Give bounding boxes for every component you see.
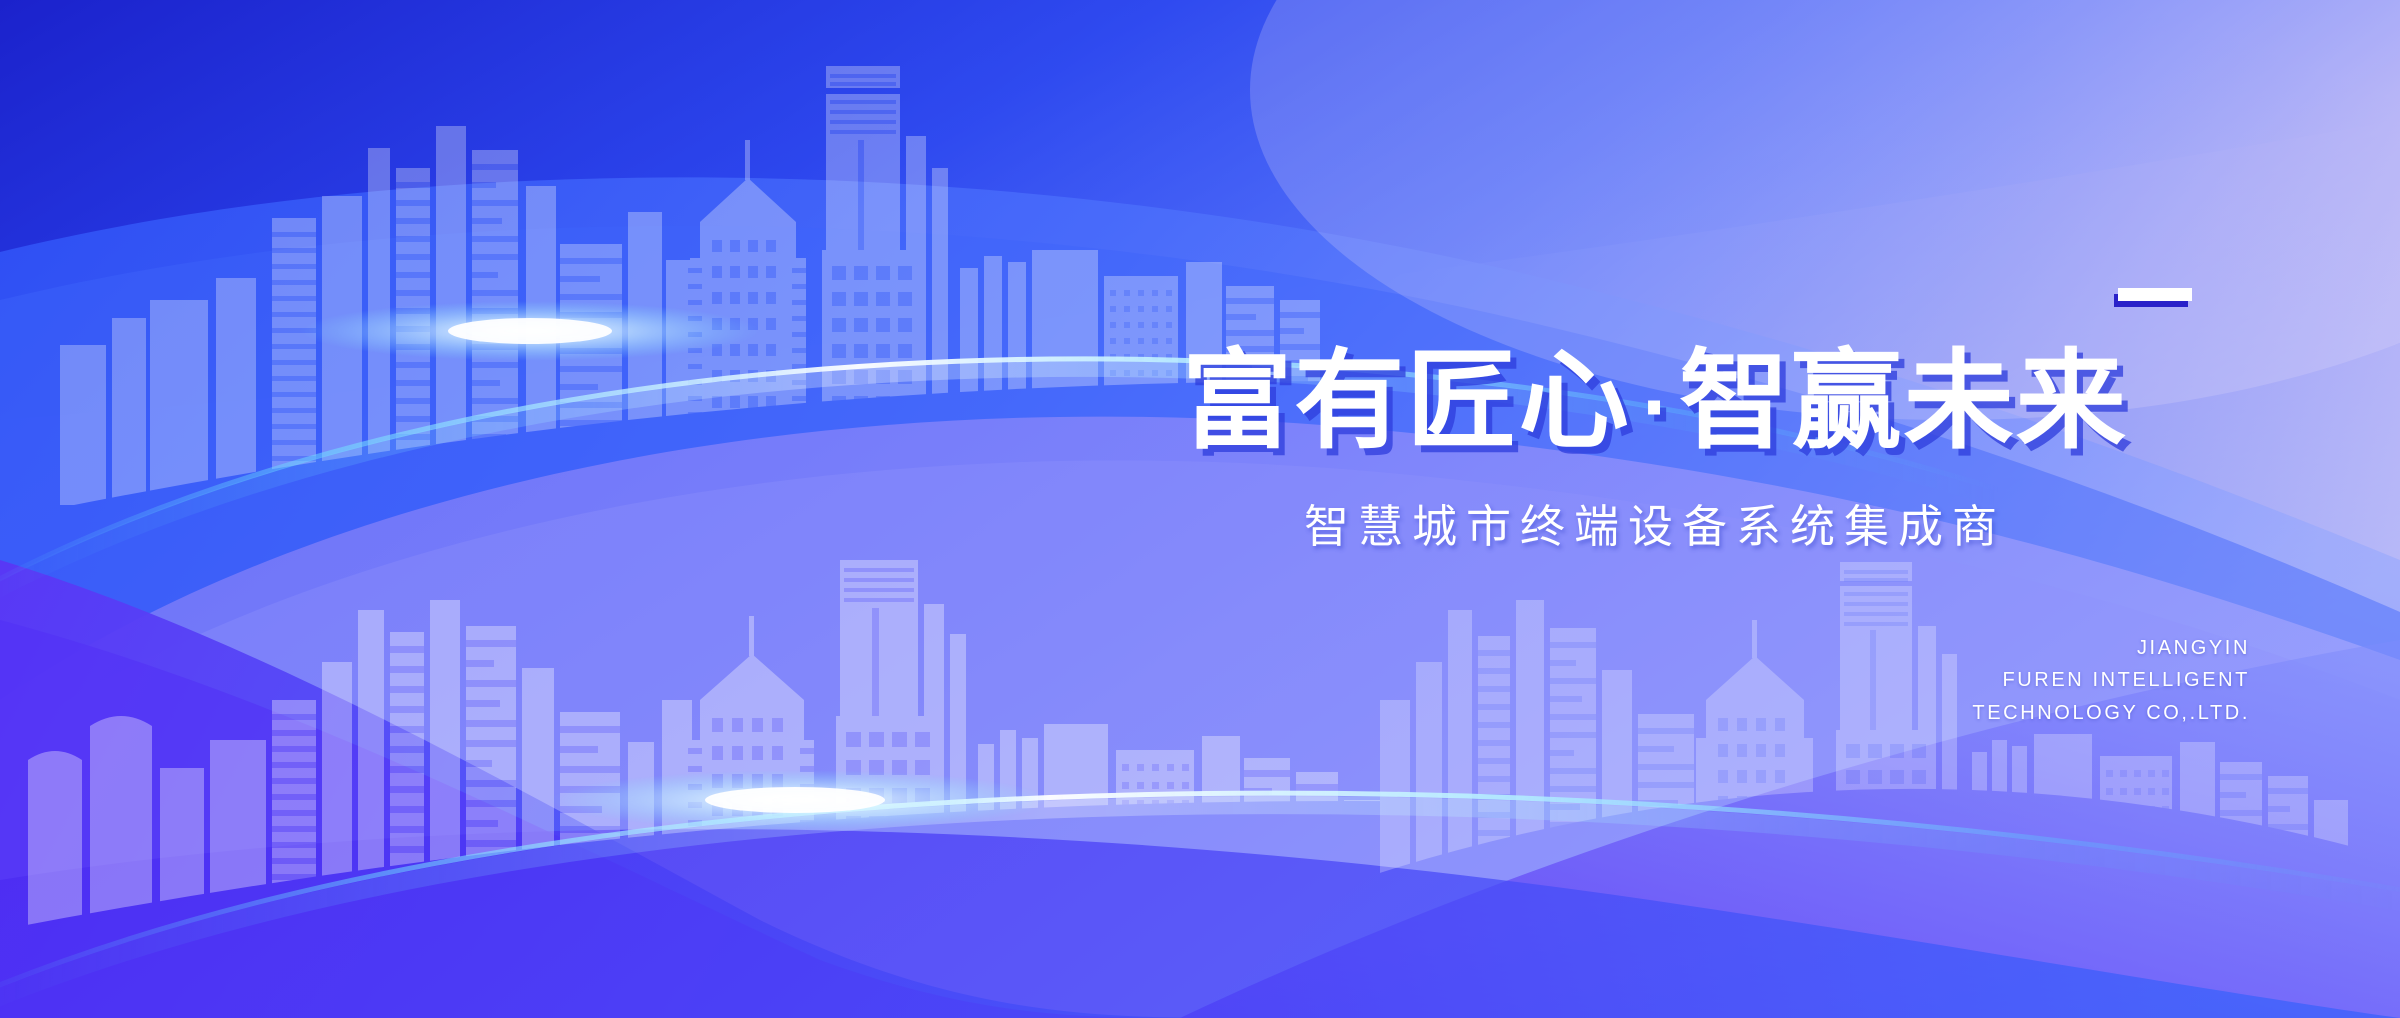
title-part-1: 富有匠心 — [1182, 339, 1631, 464]
company-name-line-2: FUREN INTELLIGENT — [1690, 664, 2250, 696]
company-name-line-1: JIANGYIN — [1690, 632, 2250, 664]
accent-dash-icon — [2118, 288, 2192, 301]
page-title: 富有匠心·智赢未来 — [1028, 348, 2283, 456]
banner-root: 富有匠心·智赢未来 智慧城市终端设备系统集成商 JIANGYIN FUREN I… — [0, 0, 2400, 1018]
title-separator: · — [1631, 365, 1679, 451]
company-name-line-3: TECHNOLOGY CO,.LTD. — [1690, 697, 2250, 729]
title-part-2: 智赢未来 — [1679, 339, 2128, 464]
company-name: JIANGYIN FUREN INTELLIGENT TECHNOLOGY CO… — [1690, 632, 2250, 729]
page-subtitle: 智慧城市终端设备系统集成商 — [1040, 490, 2270, 555]
